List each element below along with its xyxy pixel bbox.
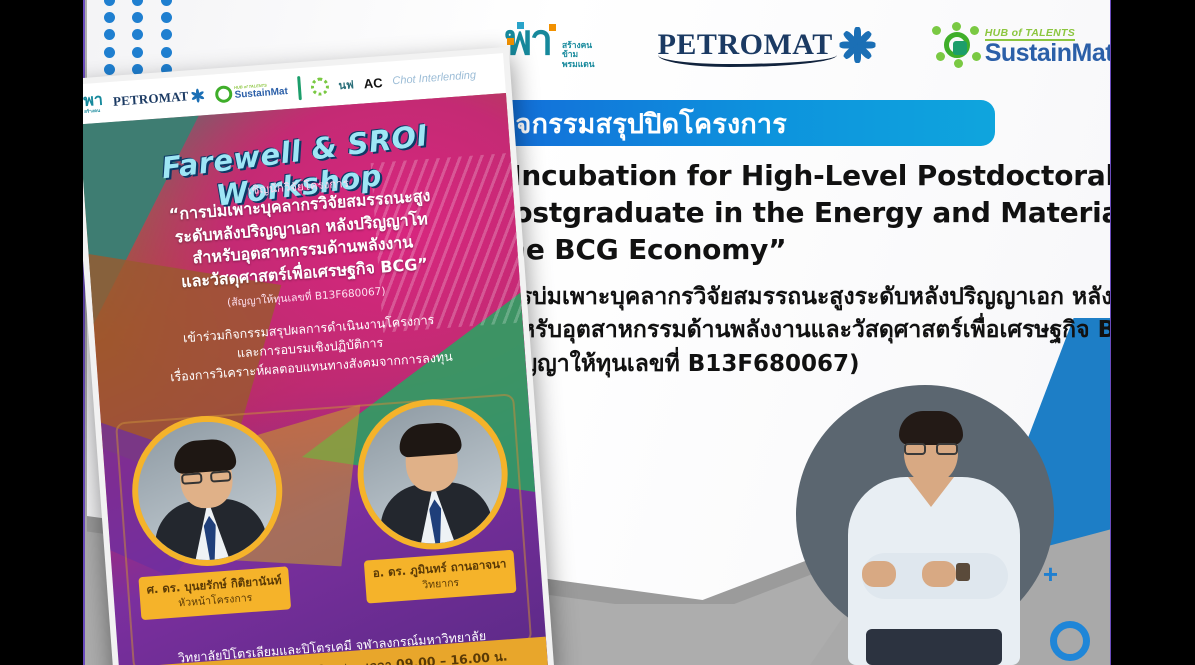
poster-petromat-fan-icon <box>190 88 206 104</box>
petromat-wordmark: PETROMAT <box>658 28 833 62</box>
workshop-poster-overlay[interactable]: พา สร้างคน PETROMAT HUB of TALENTS Susta… <box>70 47 555 665</box>
logo-divider <box>297 76 302 100</box>
poster-pmub-sub: สร้างคน <box>84 108 104 114</box>
poster-footer-time: เวลา 09.00 – 16.00 น. <box>365 646 508 665</box>
poster-pmub-glyph: พา <box>83 91 104 109</box>
poster-ac-text: AC <box>363 75 383 91</box>
speaker-card-2: อ. ดร. ภูมินทร์ ถานอาจนา วิทยากร <box>352 394 516 604</box>
banner-title: กิจกรรมสรุปปิดโครงการ <box>499 102 787 145</box>
poster-petromat-logo: PETROMAT <box>112 87 206 110</box>
poster-petromat-wordmark: PETROMAT <box>112 88 189 110</box>
pmub-mark-icon: พา <box>505 20 558 70</box>
sustainmat-logo: HUB of TALENTS SustainMatCE <box>932 22 1111 68</box>
sustainmat-wordmark: SustainMat <box>985 39 1111 67</box>
english-title-line-1: “Incubation for High-Level Postdoctoral … <box>493 158 1111 195</box>
screen-share-stage: + พา สร้างคน ข้ามพรมแดน PETROMAT <box>0 0 1195 665</box>
speaker-avatar-2 <box>352 394 513 555</box>
thai-title-line-1: การบ่มเพาะบุคลากรวิจัยสมรรถนะสูงระดับหลั… <box>493 281 1111 314</box>
petromat-logo: PETROMAT <box>658 25 878 65</box>
poster-speakers: ศ. ดร. บุนยรักษ์ กิติยานันท์ หัวหน้าโครง… <box>127 394 517 620</box>
speaker-portrait-photo <box>796 385 1062 665</box>
poster-molecule-icon <box>215 85 233 103</box>
petromat-fan-icon <box>838 25 878 65</box>
speaker-avatar-1 <box>127 411 288 572</box>
gear-icon <box>310 77 329 96</box>
poster-sustainmat-logo: HUB of TALENTS SustainMat <box>215 81 288 103</box>
poster-nf-logo: นฟ <box>338 75 355 94</box>
glasses-icon <box>904 443 958 455</box>
poster-ac-logo: AC <box>363 75 383 91</box>
speaker-card-1: ศ. ดร. บุนยรักษ์ กิติยานันท์ หัวหน้าโครง… <box>127 411 291 621</box>
english-title-line-2: Postgraduate in the Energy and Materials… <box>493 195 1111 232</box>
letterbox-right <box>1111 0 1195 665</box>
pmub-tagline-2: ข้ามพรมแดน <box>562 50 604 70</box>
poster-signature-logo: Chot Interlending <box>392 69 476 87</box>
english-title-line-3: the BCG Economy” <box>493 232 1111 269</box>
poster-pmub-logo: พา สร้างคน <box>83 92 104 114</box>
thai-title-line-3: (สัญญาให้ทุนเลขที่ B13F680067) <box>493 348 1111 381</box>
letterbox-left <box>0 0 83 665</box>
thai-title-line-2: สำหรับอุตสาหกรรมด้านพลังงานและวัสดุศาสตร… <box>493 314 1111 347</box>
poster-artwork: Farewell & SROI Workshop เชิญนักวิจัยโคร… <box>79 93 548 665</box>
poster-footer-separator: | <box>343 661 348 665</box>
molecule-icon <box>932 22 982 68</box>
pmub-logo: พา สร้างคน ข้ามพรมแดน <box>505 20 604 70</box>
